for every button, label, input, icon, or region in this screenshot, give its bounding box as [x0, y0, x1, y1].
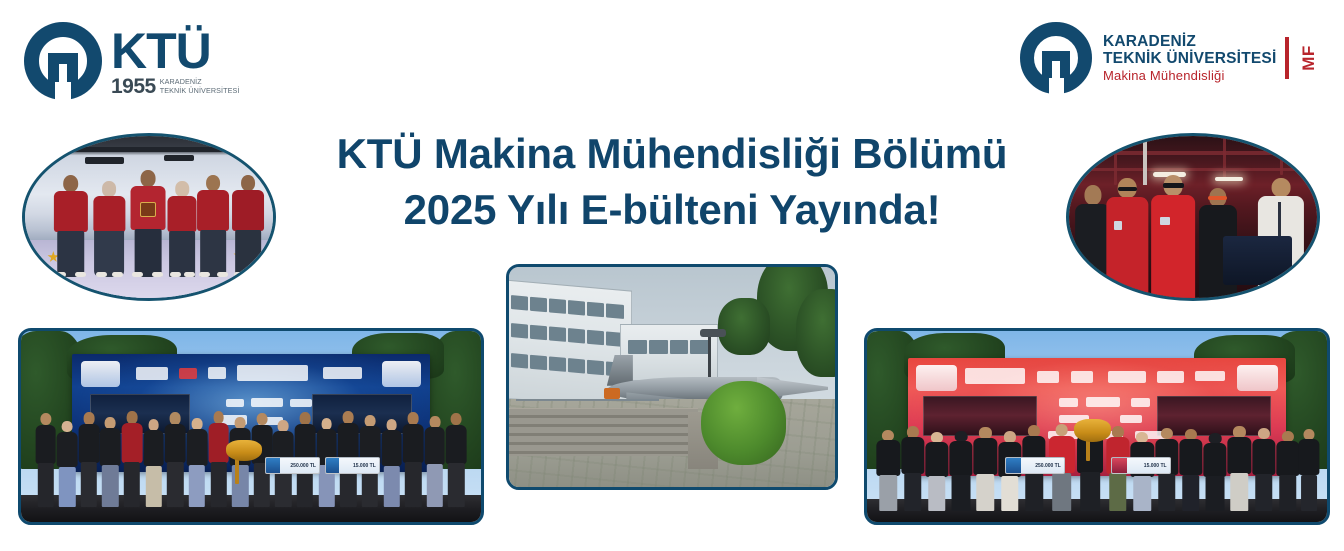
ktu-makina-muhendisligi-logo: KARADENİZ TEKNİK ÜNİVERSİTESİ Makina Müh…	[1020, 22, 1322, 94]
department-wordmark: KARADENİZ TEKNİK ÜNİVERSİTESİ Makina Müh…	[1103, 33, 1322, 83]
ktu-full-name: KARADENİZ TEKNİK ÜNİVERSİTESİ	[160, 78, 240, 97]
teknofest-logo-left	[81, 361, 120, 387]
tree	[796, 289, 835, 377]
photo-team-award	[22, 133, 276, 301]
prize-check: 15.000 TL	[325, 457, 380, 474]
sponsor-logo	[1195, 371, 1225, 382]
university-name-line-1: KARADENİZ	[1103, 33, 1276, 50]
sponsor-logo	[1059, 398, 1078, 407]
ktu-full-name-line-2: TEKNİK ÜNİVERSİTESİ	[160, 87, 240, 95]
photo-campus-jet-scene	[509, 267, 835, 487]
sponsor-logo	[1157, 371, 1183, 383]
sponsor-logo	[226, 399, 244, 407]
check-amount: 250.000 TL	[1035, 463, 1061, 469]
check-amount: 15.000 TL	[353, 463, 376, 469]
check-amount: 15.000 TL	[1144, 463, 1167, 469]
sponsor-logo	[136, 367, 168, 380]
page-title-line-1: KTÜ Makina Mühendisliği Bölümü	[280, 126, 1064, 182]
jet-exhaust-cover	[604, 388, 620, 399]
photo-team-award-scene	[25, 136, 273, 298]
teknofest-logo-right	[382, 361, 421, 387]
logo-notch-shape	[55, 82, 71, 102]
ec-yarislari-logo	[1086, 397, 1120, 408]
check-stub	[1112, 458, 1127, 473]
ceiling-light-box	[85, 157, 125, 164]
prize-check: 250.000 TL	[1005, 457, 1065, 474]
photo-teknofest-blue: 250.000 TL 15.000 TL	[18, 328, 484, 525]
sponsor-logo	[1120, 415, 1143, 423]
sponsor-logo	[323, 367, 362, 379]
logo-notch-shape	[1049, 78, 1064, 96]
photo-campus-jet	[506, 264, 838, 490]
teknofest-logo-right	[1237, 365, 1278, 391]
sunglasses-icon	[1118, 187, 1137, 192]
ktu-wordmark: KTÜ 1955 KARADENİZ TEKNİK ÜNİVERSİTESİ	[111, 22, 240, 97]
person-figure	[1106, 178, 1148, 298]
ceiling-truss	[1223, 136, 1226, 178]
sponsor-logo	[208, 367, 226, 379]
check-stub	[1006, 458, 1021, 473]
ec-yarislari-logo	[237, 365, 309, 382]
photo-teknofest-blue-scene: 250.000 TL 15.000 TL	[21, 331, 481, 522]
sunglasses-icon	[1163, 183, 1184, 188]
teknofest-logo-left	[916, 365, 957, 391]
page-title-line-2: 2025 Yılı E-bülteni Yayında!	[280, 182, 1064, 238]
faculty-abbrev-label: MF	[1299, 45, 1319, 71]
sponsor-logo	[1071, 371, 1094, 383]
campus-steps	[509, 408, 698, 456]
prize-check: 15.000 TL	[1111, 457, 1171, 474]
prize-check: 250.000 TL	[265, 457, 320, 474]
ktu-ring-monogram-icon	[24, 22, 102, 100]
ktu-ring-monogram-icon	[1020, 22, 1092, 94]
person-figure	[52, 175, 89, 277]
photo-lab-visit	[1066, 133, 1320, 301]
ktu-wordmark-sub: 1955 KARADENİZ TEKNİK ÜNİVERSİTESİ	[111, 76, 240, 97]
trophy-stem	[235, 457, 239, 484]
lamp-head	[700, 329, 726, 338]
university-name-line-2: TEKNİK ÜNİVERSİTESİ	[1103, 50, 1276, 67]
sponsor-logo	[290, 399, 312, 407]
sponsor-logo	[179, 368, 197, 379]
sponsor-logo	[1037, 371, 1060, 383]
tree	[718, 298, 770, 355]
ceiling-beam	[45, 147, 258, 152]
department-wordmark-text: KARADENİZ TEKNİK ÜNİVERSİTESİ Makina Müh…	[1103, 33, 1276, 83]
ktu-wordmark-text: KTÜ	[111, 28, 240, 74]
divider-bar	[1285, 37, 1289, 79]
ktu-founding-year: 1955	[111, 76, 156, 97]
photo-lab-visit-scene	[1069, 136, 1317, 298]
ec-yarislari-logo	[965, 368, 1025, 383]
person-figure	[166, 181, 198, 277]
ktu-logo: KTÜ 1955 KARADENİZ TEKNİK ÜNİVERSİTESİ	[24, 22, 240, 100]
page-title: KTÜ Makina Mühendisliği Bölümü 2025 Yılı…	[280, 126, 1064, 238]
check-stub	[326, 458, 340, 473]
hall-lamp	[1215, 177, 1242, 181]
faculty-abbrev-group: MF	[1285, 37, 1322, 79]
handrail	[516, 399, 659, 401]
sunglasses-icon	[1208, 196, 1227, 200]
sponsor-logo	[251, 398, 283, 407]
person-figure	[231, 175, 266, 277]
ceiling-light-box	[164, 155, 194, 161]
trophy-icon	[226, 440, 263, 461]
person-figure	[1151, 175, 1196, 298]
ceiling-truss	[1280, 136, 1283, 175]
check-amount: 250.000 TL	[290, 463, 316, 469]
check-stub	[266, 458, 280, 473]
sponsor-logo	[1131, 398, 1150, 407]
department-name: Makina Mühendisliği	[1103, 69, 1276, 84]
photo-teknofest-red-scene: 250.000 TL 15.000 TL	[867, 331, 1327, 522]
person-figure	[129, 170, 166, 277]
hedge-bush	[701, 381, 786, 465]
tubitak-logo	[1108, 371, 1146, 383]
photo-teknofest-red: 250.000 TL 15.000 TL	[864, 328, 1330, 525]
poster-canvas: KTÜ 1955 KARADENİZ TEKNİK ÜNİVERSİTESİ K…	[0, 0, 1344, 551]
trophy-icon	[1074, 419, 1111, 442]
person-figure	[196, 175, 231, 277]
laptop-screen	[1223, 236, 1292, 285]
person-figure	[92, 181, 127, 277]
